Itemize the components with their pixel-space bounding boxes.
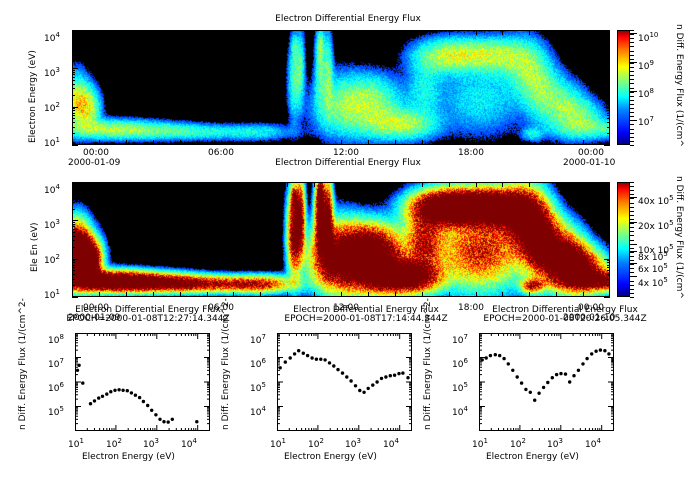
panel1-ytick-2: 102 [44,101,60,114]
spectrum-3-plot [479,333,614,431]
colorbar-tick [630,264,634,265]
data-point [599,348,602,351]
axis-tick [314,140,315,145]
panel2-ytick-2: 102 [44,253,60,266]
axis-tick [341,30,342,35]
data-point [507,362,510,365]
axis-tick [72,115,75,116]
data-point [171,418,174,421]
axis-tick [72,127,75,128]
axis-tick [126,182,127,187]
axis-tick [609,182,610,187]
data-point [529,391,532,394]
axis-tick [395,30,396,35]
colorbar-tick [630,190,634,191]
axis-tick [607,247,610,248]
axis-tick [422,30,423,35]
axis-tick [233,292,234,297]
colorbar-tick [630,42,634,43]
panel1-ytick-4: 104 [44,31,60,44]
axis-tick [607,274,610,275]
colorbar-tick [630,34,634,35]
spectrum-2-plot [277,333,412,431]
panel2-ytick-3: 103 [44,218,60,231]
axis-tick [260,140,261,145]
spectrum-2-xlabel: Electron Energy (eV) [284,452,377,462]
colorbar-tick [630,289,634,290]
colorbar-tick [630,92,634,93]
axis-tick [556,140,557,145]
data-point [603,349,606,352]
axis-tick [72,232,75,233]
axis-tick [607,77,610,78]
colorbar-tick [630,51,634,52]
spectrum-3-xtick-1: 102 [510,437,526,450]
spectrum-1-xtick-1: 102 [106,437,122,450]
spectrum-1-ytick-2: 106 [48,381,64,394]
colorbar-tick [630,79,634,80]
data-point [393,374,396,377]
axis-tick [341,182,342,187]
axis-tick [368,140,369,145]
axis-tick [72,229,75,230]
colorbar-tick [630,260,634,261]
axis-tick [72,188,75,189]
spectrum-3-xtick-3: 104 [585,437,601,450]
panel1-xtick-1: 06:00 [208,148,234,158]
spectrum-3-ytick-2: 105 [452,381,468,394]
colorbar-tick [630,252,634,253]
data-point [371,383,374,386]
spectrum-3-xlabel: Electron Energy (eV) [486,452,579,462]
axis-tick [529,30,530,35]
data-point [516,375,519,378]
spectrum-1-xtick-0: 101 [68,437,84,450]
spectrum-3-epoch: EPOCH=2000-01-08T20:26:05.344Z [455,314,675,324]
colorbar-tick [630,141,634,142]
data-point [328,361,331,364]
axis-tick [583,140,584,145]
axis-tick [233,30,234,35]
axis-tick [607,45,610,46]
spectrum-2-xtick-3: 104 [383,437,399,450]
data-point [520,381,523,384]
axis-tick [72,240,75,241]
colorbar-tick [630,293,634,294]
axis-tick [556,292,557,297]
panel1-ylabel: Electron Energy (eV) [28,50,38,143]
data-point [134,394,137,397]
panel1-colorbar-label: n Diff. Energy Flux (1/(cm^ [674,24,684,147]
axis-tick [72,194,75,195]
axis-tick [287,182,288,187]
spectrum-1-ylabel-wrap: n Diff. Energy Flux (1/(cm^2- [18,430,150,440]
axis-tick [607,224,610,225]
axis-tick [72,236,75,237]
data-point [577,369,580,372]
spectrum-2-xtick-0: 101 [270,437,286,450]
axis-tick [72,74,75,75]
data-point [502,357,505,360]
colorbar-tick [630,211,634,212]
colorbar-tick [630,83,634,84]
axis-tick [72,262,75,263]
axis-tick [72,42,75,43]
data-point [384,375,387,378]
axis-tick [72,279,75,280]
colorbar-tick [630,219,634,220]
axis-tick [180,30,181,35]
data-point [546,381,549,384]
panel2-title: Electron Differential Energy Flux [213,158,483,168]
spectrum-1-ytick-1: 107 [48,357,64,370]
axis-tick [607,122,610,123]
colorbar-tick [630,281,634,282]
colorbar-tick [630,120,634,121]
axis-tick [476,182,477,187]
colorbar-tick [630,235,634,236]
axis-tick [529,292,530,297]
axis-tick [395,140,396,145]
axis-tick [72,39,75,40]
axis-tick [556,30,557,35]
axis-tick [72,77,75,78]
data-point [89,402,92,405]
panel2-ytick-1: 101 [44,288,60,301]
panel2-cbtick-1: 20x 105 [638,219,674,232]
data-point [336,368,339,371]
panel1-xtick-4: 00:00 [578,148,604,158]
data-point [109,390,112,393]
axis-tick [72,270,75,271]
data-point [81,381,84,384]
axis-tick [502,30,503,35]
axis-tick [607,226,610,227]
data-point [332,364,335,367]
panel2-ytick-4: 104 [44,183,60,196]
panel2-cbtick-4: 6x 105 [638,262,668,275]
axis-tick [607,209,610,210]
axis-tick [72,224,75,225]
axis-tick [529,182,530,187]
data-point [397,372,400,375]
axis-tick [607,50,610,51]
colorbar-tick [630,63,634,64]
axis-tick [607,118,610,119]
axis-tick [72,145,78,146]
data-point [130,391,133,394]
spectrum-1-xtick-3: 104 [181,437,197,450]
colorbar-tick [630,129,634,130]
panel1-title: Electron Differential Energy Flux [213,14,483,24]
data-point [302,352,305,355]
data-point [581,362,584,365]
axis-tick [72,110,75,111]
colorbar-tick [630,272,634,273]
axis-tick [607,279,610,280]
axis-tick [72,297,78,298]
axis-tick [607,84,610,85]
spectrum-1-ylabel: n Diff. Energy Flux (1/(cm^2- [18,298,28,430]
colorbar-tick [630,137,634,138]
axis-tick [72,285,75,286]
data-point [559,372,562,375]
axis-tick [422,292,423,297]
axis-tick [607,229,610,230]
axis-tick [207,30,208,35]
axis-tick [607,240,610,241]
axis-tick [583,292,584,297]
data-point [126,389,129,392]
axis-tick [502,140,503,145]
colorbar-tick [630,96,634,97]
axis-tick [341,292,342,297]
data-point [293,352,296,355]
axis-tick [422,182,423,187]
data-point [485,356,488,359]
panel1-ytick-3: 103 [44,66,60,79]
data-point [315,358,318,361]
panel2-colorbar-frame [617,182,630,297]
axis-tick [314,292,315,297]
axis-tick [449,292,450,297]
data-point [150,409,153,412]
data-point [585,357,588,360]
spectrum-1-ytick-0: 108 [48,333,64,346]
data-point [489,354,492,357]
spectrum-3-ylabel: n Diff. Energy Flux (1/(cm^2- [423,298,433,430]
axis-tick [180,182,181,187]
axis-tick [604,145,610,146]
axis-tick [607,262,610,263]
data-point [113,389,116,392]
axis-tick [607,197,610,198]
axis-tick [368,182,369,187]
data-point [345,375,348,378]
colorbar-tick [630,104,634,105]
axis-tick [607,236,610,237]
axis-tick [99,292,100,297]
colorbar-tick [630,145,634,146]
spectrum-2-ytick-0: 107 [250,333,266,346]
data-point [121,389,124,392]
data-point [284,360,287,363]
axis-tick [607,267,610,268]
axis-tick [72,191,75,192]
axis-tick [607,88,610,89]
data-point [494,353,497,356]
colorbar-tick [630,100,634,101]
axis-tick [72,50,75,51]
axis-tick [72,108,75,109]
panel2-cbtick-0: 40x 105 [638,194,674,207]
data-point [93,399,96,402]
axis-tick [153,292,154,297]
axis-tick [72,274,75,275]
colorbar-tick [630,227,634,228]
axis-tick [607,36,610,37]
data-point [354,384,357,387]
data-point [101,395,104,398]
axis-tick [126,140,127,145]
panel2-colorbar-label: n Diff. Energy Flux (1/(cm^ [674,176,684,299]
spectrum-2-ylabel: n Diff. Energy Flux (1/(cm^2- [221,298,231,430]
spectrogram-top-frame [72,30,610,145]
axis-tick [233,182,234,187]
axis-tick [395,182,396,187]
axis-tick [476,140,477,145]
axis-tick [207,292,208,297]
colorbar-tick [630,256,634,257]
colorbar-tick [630,108,634,109]
axis-tick [72,182,73,187]
data-point [551,376,554,379]
data-point [401,371,404,374]
axis-tick [72,222,75,223]
panel1-colorbar-frame [617,30,630,145]
axis-tick [180,292,181,297]
panel2-ylabel: Ele En (eV) [30,222,40,272]
data-point [406,376,409,379]
spectrum-3-ytick-3: 104 [452,405,468,418]
axis-tick [607,127,610,128]
axis-tick [72,57,75,58]
axis-tick [449,140,450,145]
data-point [158,418,161,421]
colorbar-tick [630,297,634,298]
axis-tick [607,42,610,43]
spectrum-2-ytick-1: 106 [250,357,266,370]
axis-tick [368,292,369,297]
colorbar-tick [630,88,634,89]
axis-tick [583,182,584,187]
data-point [97,396,100,399]
data-point [555,373,558,376]
colorbar-tick [630,268,634,269]
axis-tick [72,88,75,89]
axis-tick [607,113,610,114]
data-point [524,388,527,391]
spectrum-2-xtick-1: 102 [308,437,324,450]
axis-tick [607,115,610,116]
axis-tick [72,260,75,261]
axis-tick [72,197,75,198]
panel1-xdate-right: 2000-01-10 [563,158,615,168]
axis-tick [72,80,75,81]
axis-tick [607,194,610,195]
data-point [594,350,597,353]
axis-tick [72,84,75,85]
axis-tick [99,30,100,35]
axis-tick [180,140,181,145]
axis-tick [583,30,584,35]
axis-tick [260,30,261,35]
colorbar-tick [630,182,634,183]
axis-tick [529,140,530,145]
spectrum-1-plot [75,333,210,431]
spectrum-3-xtick-0: 101 [472,437,488,450]
data-point [146,404,149,407]
colorbar-tick [630,75,634,76]
colorbar-tick [630,71,634,72]
axis-tick [72,209,75,210]
data-point [319,358,322,361]
data-point [162,420,165,423]
axis-tick [72,95,75,96]
spectrum-3-ylabel-wrap: n Diff. Energy Flux (1/(cm^2- [423,430,555,440]
axis-tick [207,182,208,187]
panel2-colorbar-label-wrap: n Diff. Energy Flux (1/(cm^ [684,176,697,186]
axis-tick [72,202,75,203]
data-point [323,358,326,361]
panel1-cbtick-0: 1010 [638,31,658,44]
axis-tick [260,292,261,297]
axis-tick [72,113,75,114]
data-point [607,352,610,355]
colorbar-tick [630,244,634,245]
spectrum-1-xtick-2: 103 [143,437,159,450]
axis-tick [502,182,503,187]
colorbar-tick [630,223,634,224]
axis-tick [72,118,75,119]
axis-tick [607,70,610,71]
data-point [389,374,392,377]
spectrum-1-ytick-3: 105 [48,405,64,418]
data-point [367,387,370,390]
data-point [349,379,352,382]
data-point [375,380,378,383]
axis-tick [341,140,342,145]
panel1-cbtick-3: 107 [638,115,654,128]
data-point [564,372,567,375]
axis-tick [607,133,610,134]
colorbar-tick [630,203,634,204]
data-point [142,400,145,403]
panel1-xtick-0: 00:00 [83,148,109,158]
panel1-cbtick-1: 109 [638,59,654,72]
axis-tick [607,265,610,266]
data-point [572,374,575,377]
data-point [154,413,157,416]
axis-tick [99,140,100,145]
colorbar-tick [630,198,634,199]
colorbar-tick [630,215,634,216]
axis-tick [368,30,369,35]
spectrogram-bottom-frame [72,182,610,297]
axis-tick [609,292,610,297]
axis-tick [287,292,288,297]
axis-tick [314,182,315,187]
axis-tick [607,108,610,109]
data-point [167,420,170,423]
axis-tick [607,57,610,58]
axis-tick [99,182,100,187]
axis-tick [153,30,154,35]
panel1-ytick-4-exp: 4 [55,31,59,39]
colorbar-tick [630,46,634,47]
colorbar-tick [630,285,634,286]
axis-tick [502,292,503,297]
axis-tick [607,110,610,111]
axis-tick [607,191,610,192]
axis-tick [604,297,610,298]
axis-tick [607,232,610,233]
data-point [297,349,300,352]
colorbar-tick [630,124,634,125]
axis-tick [607,80,610,81]
axis-tick [72,265,75,266]
axis-tick [607,95,610,96]
